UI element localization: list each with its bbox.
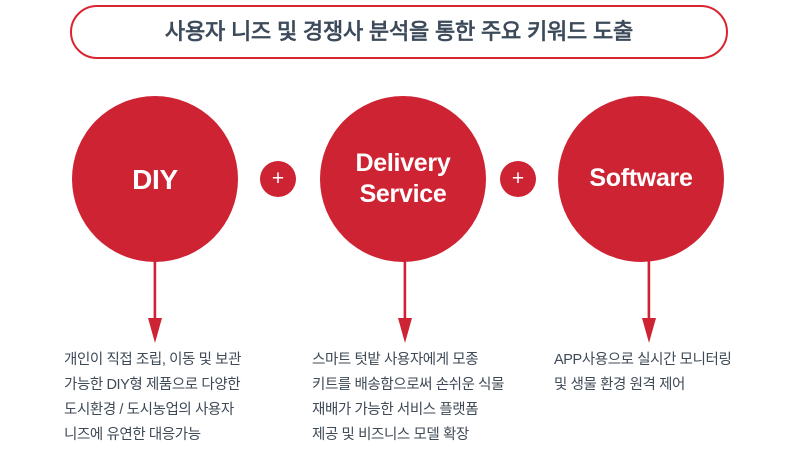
description-line: 스마트 텃밭 사용자에게 모종 [312,348,504,373]
plus-icon: + [260,161,296,197]
description-line: 및 생물 환경 원격 제어 [554,373,731,398]
pillar-label-delivery-line1: Delivery [356,148,451,179]
arrow-down-icon [396,258,414,344]
description-line: APP사용으로 실시간 모니터링 [554,348,731,373]
pillar-circle-software: Software [558,96,724,262]
description-line: 가능한 DIY형 제품으로 다양한 [64,373,241,398]
page-title: 사용자 니즈 및 경쟁사 분석을 통한 주요 키워드 도출 [165,21,633,43]
description-line: 키트를 배송함으로써 손쉬운 식물 [312,373,504,398]
pillar-description-delivery-service: 스마트 텃밭 사용자에게 모종 키트를 배송함으로써 손쉬운 식물 재배가 가능… [312,348,504,448]
description-line: 재배가 가능한 서비스 플랫폼 [312,398,504,423]
plus-symbol: + [512,168,524,189]
description-line: 제공 및 비즈니스 모델 확장 [312,423,504,448]
slide-canvas: 사용자 니즈 및 경쟁사 분석을 통한 주요 키워드 도출 DIY + Deli… [0,0,800,452]
pillar-circle-delivery-service: Delivery Service [320,96,486,262]
description-line: 도시환경 / 도시농업의 사용자 [64,398,241,423]
arrow-down-icon [146,258,164,344]
pillar-circle-diy: DIY [72,96,238,262]
pillar-label-delivery-line2: Service [360,179,447,210]
arrow-down-icon [640,258,658,344]
title-banner: 사용자 니즈 및 경쟁사 분석을 통한 주요 키워드 도출 [70,5,728,59]
pillar-description-software: APP사용으로 실시간 모니터링 및 생물 환경 원격 제어 [554,348,731,398]
pillar-label-diy: DIY [132,162,178,197]
pillar-description-diy: 개인이 직접 조립, 이동 및 보관 가능한 DIY형 제품으로 다양한 도시환… [64,348,241,448]
plus-icon: + [500,161,536,197]
description-line: 니즈에 유연한 대응가능 [64,423,241,448]
plus-symbol: + [272,168,284,189]
description-line: 개인이 직접 조립, 이동 및 보관 [64,348,241,373]
pillar-label-software: Software [589,163,692,194]
